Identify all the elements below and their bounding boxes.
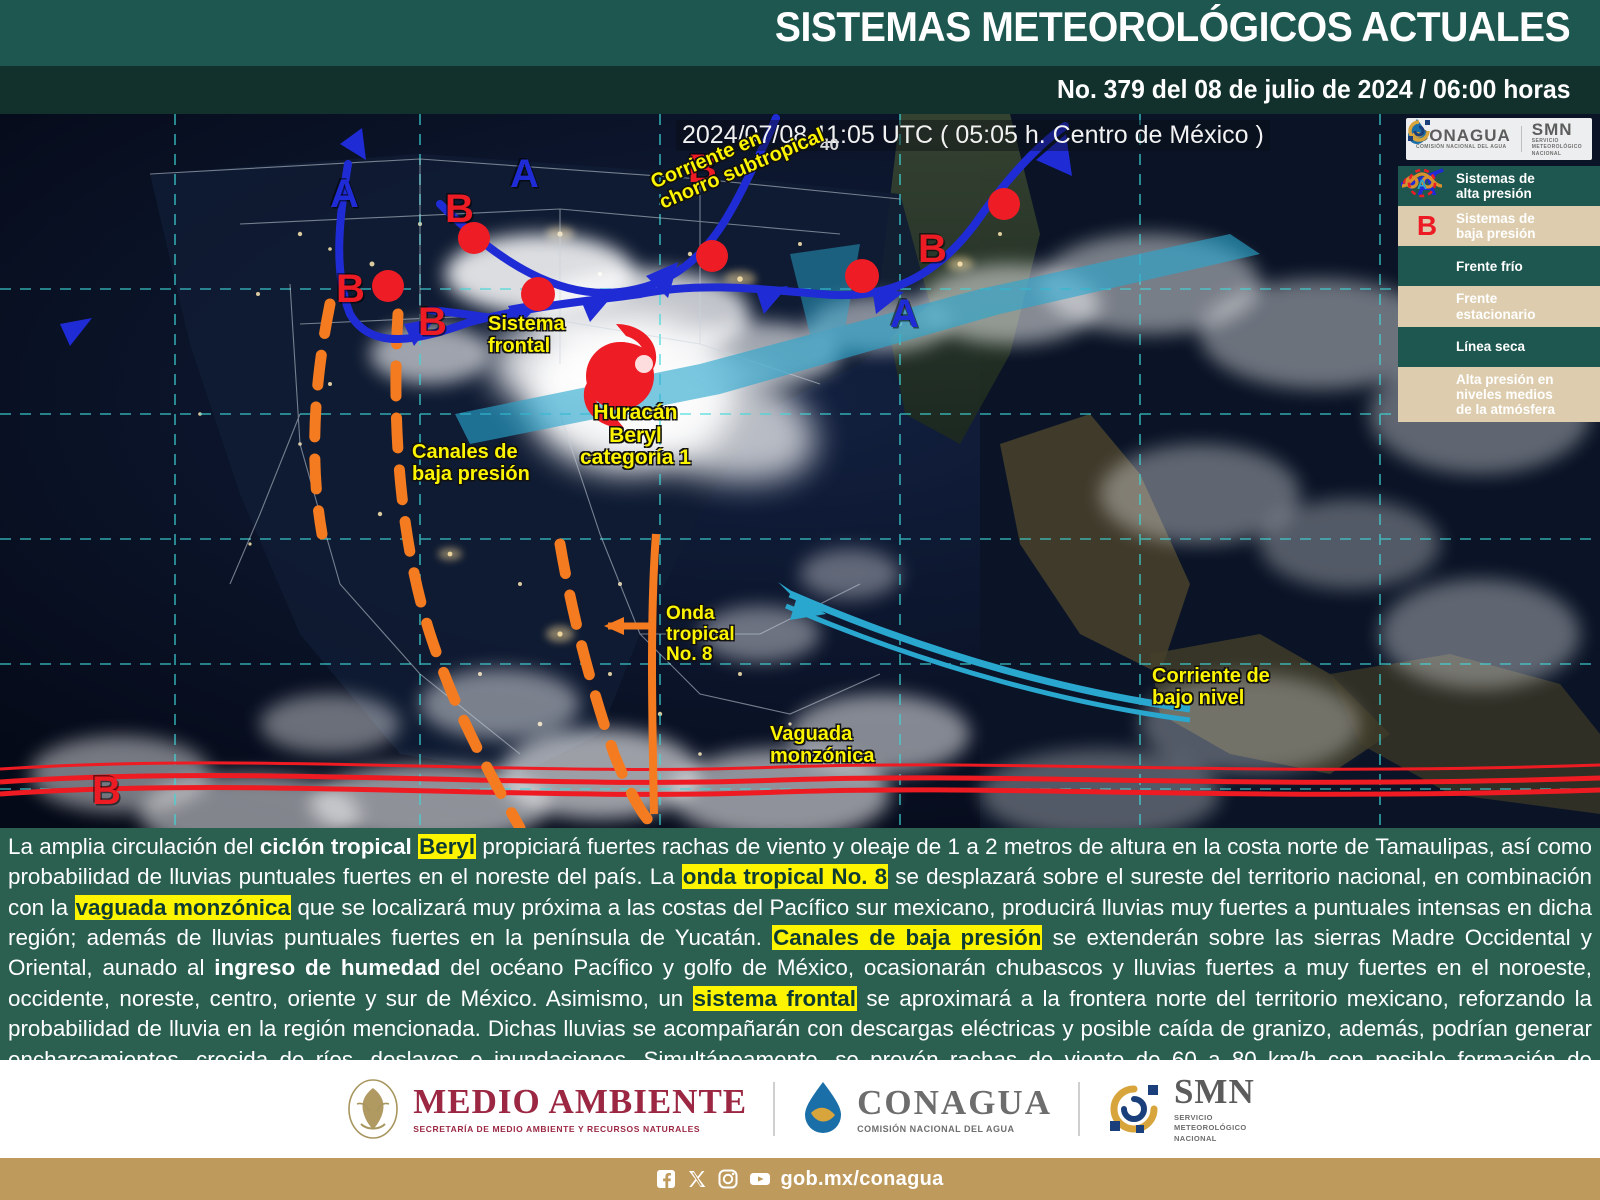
legend-label-4: Línea seca	[1456, 334, 1531, 359]
low-pressure-marker-6: B	[688, 149, 717, 189]
smn-spiral-icon	[1106, 1081, 1162, 1137]
high-pressure-marker-2: A	[890, 294, 919, 334]
legend-label-3: Frente estacionario	[1456, 286, 1542, 326]
legend-label-1: Sistemas de baja presión	[1456, 206, 1542, 246]
low-pressure-marker-7: B	[918, 229, 947, 269]
water-drop-icon	[801, 1080, 845, 1138]
legend-row-4: Línea seca	[1398, 327, 1600, 367]
cold-front-icon	[1398, 246, 1456, 286]
footer-divider-1	[773, 1082, 775, 1136]
mid-level-high-icon: A	[1398, 374, 1456, 414]
low-pressure-marker-4: B	[445, 189, 474, 229]
mexico-eagle-seal-icon	[345, 1078, 401, 1140]
smn-logo-footer: SMN SERVICIO METEOROLÓGICO NACIONAL	[1106, 1074, 1255, 1143]
legend-label-0: Sistemas de alta presión	[1456, 166, 1541, 206]
medio-ambiente-logo: MEDIO AMBIENTE SECRETARÍA DE MEDIO AMBIE…	[345, 1078, 747, 1140]
social-bar: gob.mx/conagua	[0, 1158, 1600, 1200]
medio-ambiente-name: MEDIO AMBIENTE	[413, 1084, 747, 1119]
forecast-highlight-4: onda tropical No. 8	[682, 864, 888, 889]
smn-sub-map: SERVICIO METEOROLÓGICO NACIONAL	[1532, 138, 1582, 157]
smn-name-footer: SMN	[1174, 1074, 1255, 1109]
low-pressure-marker-3: B	[336, 269, 365, 309]
high-pressure-marker-0: A	[330, 174, 359, 214]
forecast-highlight-6: vaguada monzónica	[75, 895, 291, 920]
forecast-highlight-2: Beryl	[418, 834, 476, 859]
medio-ambiente-sub: SECRETARÍA DE MEDIO AMBIENTE Y RECURSOS …	[413, 1124, 747, 1134]
map-timestamp: 2024/07/08 11:05 UTC ( 05:05 h. Centro d…	[676, 120, 1270, 151]
legend-row-5: AAlta presión en niveles medios de la at…	[1398, 367, 1600, 422]
low-pressure-marker-5: B	[418, 302, 447, 342]
smn-logo-map: SMN SERVICIO METEOROLÓGICO NACIONAL	[1532, 121, 1582, 157]
conagua-logo-footer: CONAGUA COMISIÓN NACIONAL DEL AGUA	[801, 1080, 1052, 1138]
header-band: SISTEMAS METEOROLÓGICOS ACTUALES	[0, 0, 1600, 66]
legend-label-2: Frente frío	[1456, 254, 1529, 279]
conagua-sub-footer: COMISIÓN NACIONAL DEL AGUA	[857, 1124, 1052, 1134]
dry-line-icon	[1398, 327, 1456, 367]
header-subband: No. 379 del 08 de julio de 2024 / 06:00 …	[0, 66, 1600, 114]
legend-label-5: Alta presión en niveles medios de la atm…	[1456, 367, 1561, 422]
conagua-sub-map: COMISIÓN NACIONAL DEL AGUA	[1416, 144, 1511, 150]
svg-text:A: A	[1417, 176, 1427, 192]
satellite-imagery	[0, 114, 1600, 828]
youtube-icon[interactable]	[749, 1169, 769, 1189]
forecast-highlight-8: Canales de baja presión	[772, 925, 1042, 950]
smn-sub-footer: SERVICIO METEOROLÓGICO NACIONAL	[1174, 1113, 1255, 1143]
forecast-highlight-12: sistema frontal	[693, 986, 857, 1011]
forecast-bold-1: ciclón tropical	[260, 834, 418, 859]
satellite-map[interactable]: 2024/07/08 11:05 UTC ( 05:05 h. Centro d…	[0, 114, 1600, 828]
smn-spiral-icon	[1406, 118, 1432, 144]
low-pressure-marker-8: B	[92, 771, 121, 811]
bulletin-number-date: No. 379 del 08 de julio de 2024 / 06:00 …	[1057, 74, 1570, 105]
hurricane-eye	[635, 355, 653, 373]
footer-logos: MEDIO AMBIENTE SECRETARÍA DE MEDIO AMBIE…	[0, 1060, 1600, 1158]
footer-divider-2	[1078, 1082, 1080, 1136]
instagram-icon[interactable]	[718, 1169, 738, 1189]
high-pressure-marker-1: A	[510, 154, 539, 194]
facebook-icon[interactable]	[656, 1169, 676, 1189]
legend-row-2: Frente frío	[1398, 246, 1600, 286]
conagua-name-footer: CONAGUA	[857, 1085, 1052, 1120]
social-url[interactable]: gob.mx/conagua	[780, 1168, 943, 1191]
map-legend: ASistemas de alta presiónBSistemas de ba…	[1398, 166, 1600, 422]
forecast-text-panel: La amplia circulación del ciclón tropica…	[0, 828, 1600, 1060]
forecast-bold-10: ingreso de humedad	[214, 955, 440, 980]
x-twitter-icon[interactable]	[687, 1169, 707, 1189]
logo-divider	[1521, 126, 1522, 152]
smn-name-map: SMN	[1532, 121, 1582, 138]
map-logos: CONAGUA COMISIÓN NACIONAL DEL AGUA SMN S…	[1406, 118, 1592, 160]
weather-bulletin-page: SISTEMAS METEOROLÓGICOS ACTUALES No. 379…	[0, 0, 1600, 1200]
legend-row-1: BSistemas de baja presión	[1398, 206, 1600, 246]
page-title: SISTEMAS METEOROLÓGICOS ACTUALES	[775, 3, 1570, 51]
letter-b-icon: B	[1398, 206, 1456, 246]
legend-row-3: Frente estacionario	[1398, 286, 1600, 326]
stationary-front-icon	[1398, 287, 1456, 327]
forecast-text-0: La amplia circulación del	[8, 834, 260, 859]
